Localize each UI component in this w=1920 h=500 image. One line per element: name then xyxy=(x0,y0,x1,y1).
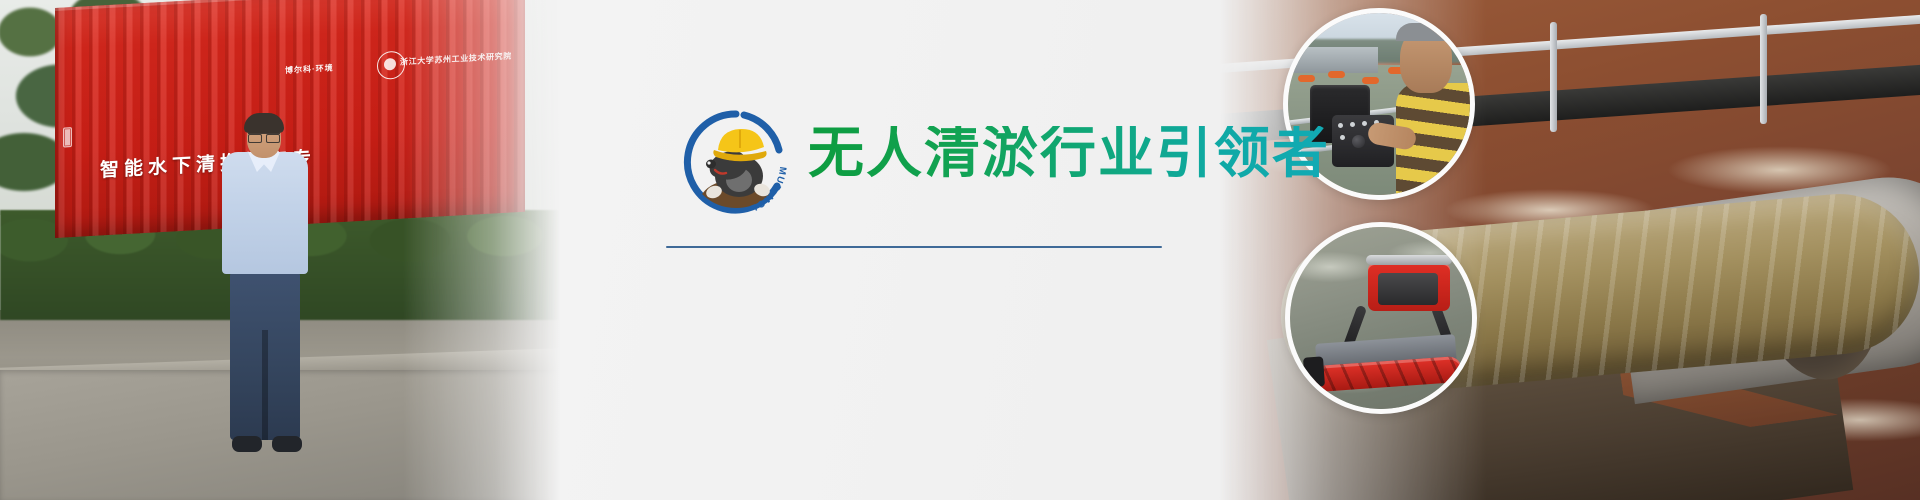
panel-button xyxy=(1340,135,1345,140)
person-shoe xyxy=(272,436,302,452)
robot-roll-bar xyxy=(1366,255,1452,265)
person-hair xyxy=(244,113,284,133)
plant-building xyxy=(1292,47,1378,73)
person-glasses xyxy=(248,133,280,141)
person-leg-gap xyxy=(262,330,268,440)
operator-cap xyxy=(1396,23,1458,41)
person-shoe xyxy=(232,436,262,452)
handrail-post xyxy=(1760,14,1767,124)
mud-mole-logo: MUD MOLE xyxy=(682,108,790,216)
panel-button xyxy=(1362,121,1367,126)
panel-button xyxy=(1350,122,1355,127)
logo-mole-nose-highlight xyxy=(707,161,710,164)
auger-end-cap xyxy=(1303,356,1325,387)
mud-mole-logo-graphic: MUD MOLE xyxy=(682,108,790,216)
dredging-robot-photo xyxy=(1285,222,1477,414)
hero-banner: 博尔科·环境 浙江大学苏州工业技术研究院 智能水下清掏扩容专 xyxy=(0,0,1920,500)
orange-float xyxy=(1362,77,1379,84)
robot-machinery xyxy=(1378,273,1438,305)
control-joystick xyxy=(1352,135,1365,148)
title-divider xyxy=(666,246,1162,248)
logo-mole-snout xyxy=(706,160,716,169)
handrail-post xyxy=(1550,22,1557,132)
orange-float xyxy=(1298,75,1315,82)
panel-button xyxy=(1338,123,1343,128)
page-title: 无人清淤行业引领者 xyxy=(808,126,1330,182)
person-shirt xyxy=(222,152,308,274)
orange-float xyxy=(1328,71,1345,78)
container-door-latch xyxy=(63,127,72,148)
container-site-photo: 博尔科·环境 浙江大学苏州工业技术研究院 智能水下清掏扩容专 xyxy=(0,0,560,500)
center-branding: MUD MOLE 无人清淤行业引领者 xyxy=(660,0,1220,500)
